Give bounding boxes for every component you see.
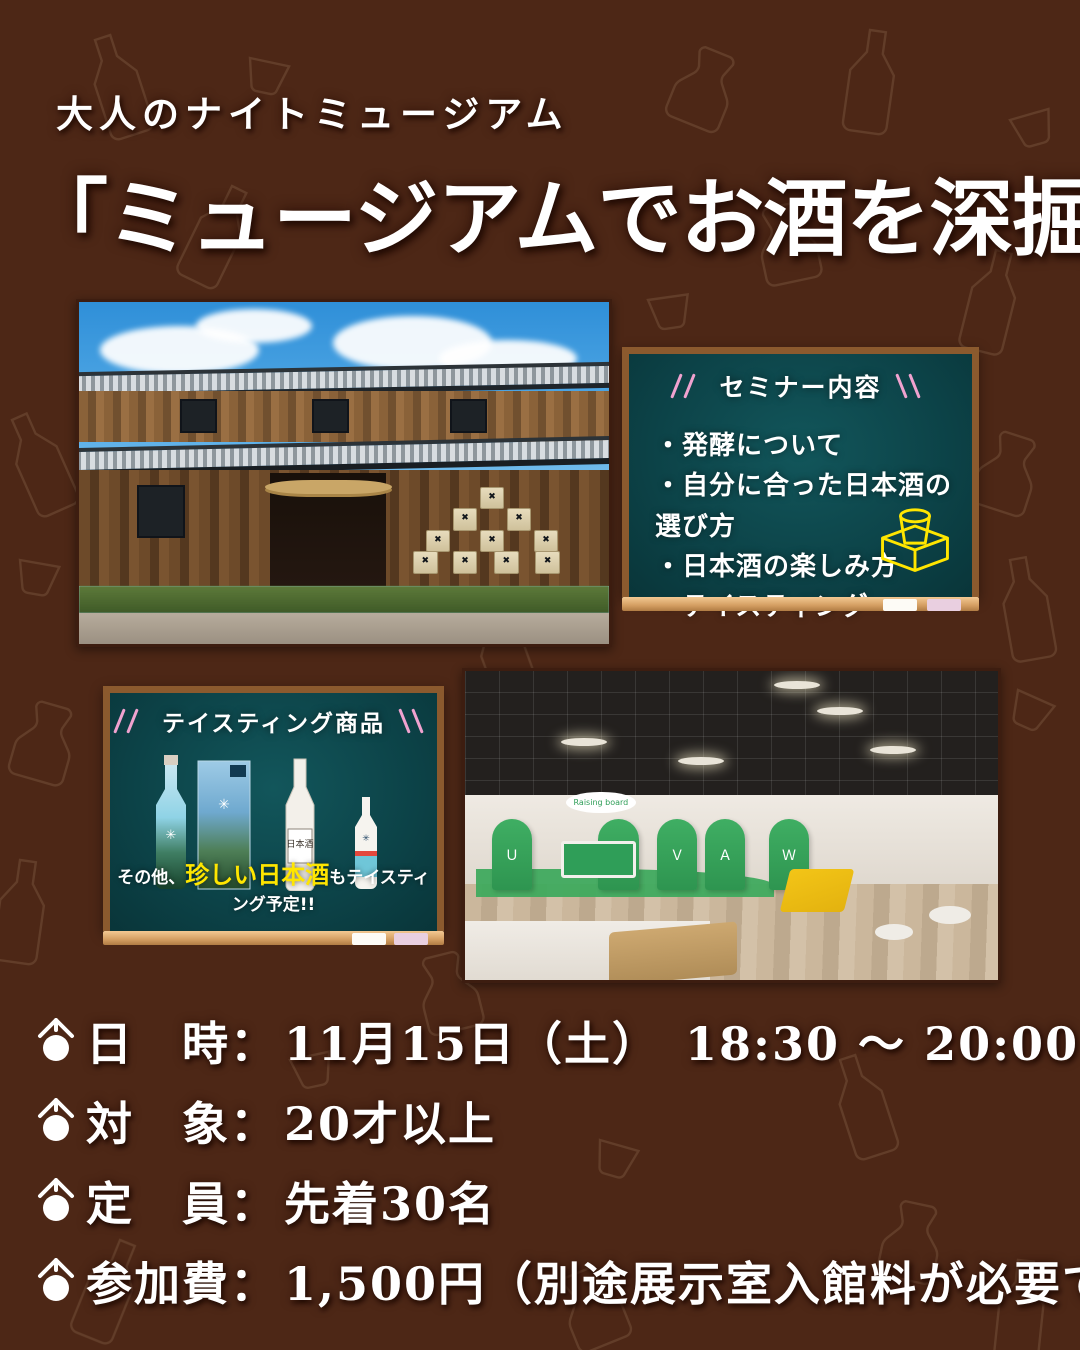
seminar-board-heading: セミナー内容	[629, 368, 972, 404]
tasting-footer-highlight: 珍しい日本酒	[185, 861, 329, 889]
museum-interior-photo: Ｕ Ｌ Ｖ Ａ Ｗ Raising board	[462, 668, 1001, 983]
grid-ceiling	[465, 671, 998, 801]
detail-row-fee: 参加費： 1,500円（別途展示室入館料が必要です）	[34, 1248, 1054, 1314]
tasting-products-board: テイスティング商品 ✳ ✳	[103, 686, 444, 931]
event-details: 日 時： 11月15日（土） 18:30 〜 20:00 対 象： 20才以上 …	[34, 1008, 1054, 1328]
detail-row-datetime: 日 時： 11月15日（土） 18:30 〜 20:00	[34, 1008, 1054, 1074]
slash-right-icon	[896, 373, 930, 399]
svg-text:✳: ✳	[362, 834, 370, 844]
detail-label: 日 時：	[86, 1008, 278, 1074]
svg-text:日本酒: 日本酒	[286, 838, 313, 850]
tasting-footer-note: その他、珍しい日本酒もテイスティング予定!!	[110, 855, 437, 915]
tasting-heading-text: テイスティング商品	[162, 704, 385, 738]
detail-row-capacity: 定 員： 先着30名	[34, 1168, 1054, 1234]
seminar-heading-text: セミナー内容	[719, 368, 881, 404]
sugidama-icon	[34, 1018, 78, 1064]
cloud	[196, 309, 313, 343]
detail-label: 定 員：	[86, 1168, 278, 1234]
tasting-footer-prefix: その他、	[117, 868, 185, 888]
chalk-white	[352, 933, 386, 945]
detail-value: 11月15日（土） 18:30 〜 20:00	[284, 1008, 1079, 1074]
seminar-content-board: セミナー内容 発酵について 自分に合った日本酒の選び方 日本酒の楽しみ方 テイス…	[622, 347, 979, 597]
poster-kicker: 大人のナイトミュージアム	[56, 84, 569, 138]
chalk-ledge	[103, 931, 444, 945]
svg-text:✳: ✳	[218, 797, 230, 813]
detail-label: 対 象：	[86, 1088, 278, 1154]
tasting-board-heading: テイスティング商品	[110, 704, 437, 738]
masu-sake-cup-icon	[872, 497, 958, 579]
detail-value: 20才以上	[284, 1088, 496, 1154]
hedge-row	[79, 586, 609, 613]
lattice-window	[137, 485, 185, 538]
detail-value: 先着30名	[284, 1168, 496, 1234]
sugidama-icon	[34, 1098, 78, 1144]
exhibit-pillar: Ｕ	[492, 819, 533, 890]
chalk-ledge	[622, 597, 979, 611]
slash-right-icon	[399, 708, 433, 734]
sugidama-icon	[34, 1258, 78, 1304]
slash-left-icon	[671, 373, 705, 399]
lattice-window	[180, 399, 217, 433]
stone-pavement	[79, 613, 609, 644]
wooden-shelf	[609, 922, 737, 983]
shimenawa-rope	[265, 480, 392, 494]
detail-value: 1,500円（別途展示室入館料が必要です）	[284, 1248, 1080, 1314]
chalk-pink	[394, 933, 428, 945]
seminar-item: 発酵について	[655, 426, 972, 466]
green-tree	[482, 323, 612, 590]
detail-row-audience: 対 象： 20才以上	[34, 1088, 1054, 1154]
yellow-slide	[779, 869, 854, 912]
svg-text:✳: ✳	[166, 828, 177, 843]
cloud-sign: Raising board	[566, 792, 635, 814]
slash-left-icon	[114, 708, 148, 734]
exhibit-pillar: Ｖ	[657, 819, 698, 890]
poster-title: 「ミュージアムでお酒を深掘り」	[24, 152, 1080, 273]
exhibit-pillar: Ａ	[705, 819, 746, 890]
detail-label: 参加費：	[86, 1248, 278, 1314]
exhibit-screen	[561, 841, 636, 878]
sugidama-icon	[34, 1178, 78, 1224]
chalk-white	[883, 599, 917, 611]
lattice-window	[312, 399, 349, 433]
chalk-pink	[927, 599, 961, 611]
brewery-exterior-photo	[76, 299, 612, 647]
round-stool	[875, 924, 912, 939]
